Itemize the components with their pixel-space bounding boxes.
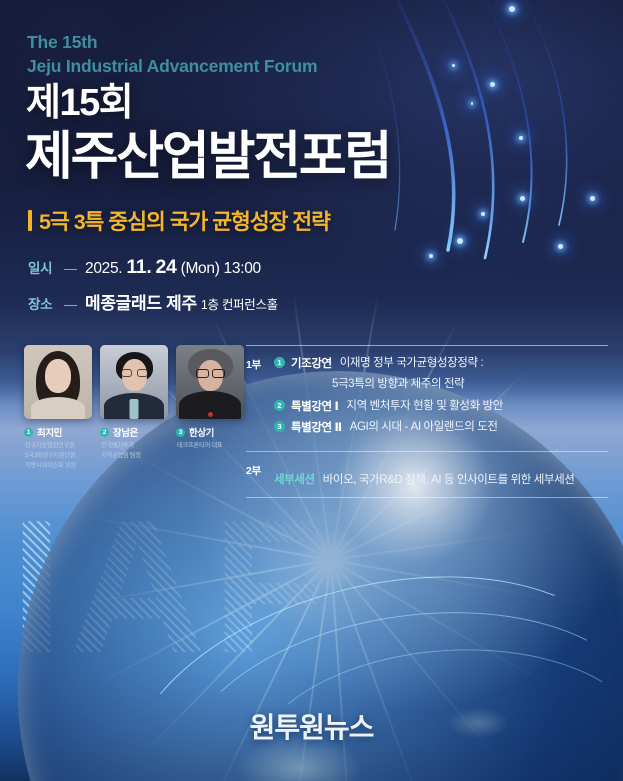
speaker-name-row: 2 장남은 — [100, 425, 168, 439]
part2-label: 2부 — [246, 461, 274, 478]
speaker-number-badge: 1 — [24, 428, 33, 437]
program-item-kind: 특별강연 Ⅱ — [291, 419, 342, 435]
program-item-desc: 지역 벤처투자 현황 및 활성화 방안 — [346, 398, 503, 415]
speaker-number-badge: 3 — [176, 428, 185, 437]
program-item-kind: 기조강연 — [291, 355, 332, 371]
page-title: 제주산업발전포럼 — [25, 130, 390, 185]
program-item: 3 특별강연 Ⅱ AGI의 시대 - AI 아일랜드의 도전 — [274, 419, 608, 436]
program-item: 1 기조강연 이재명 정부 국가균형성장정략 : — [274, 355, 608, 372]
venue-dash: — — [64, 297, 77, 312]
program-item-desc: AGI의 시대 - AI 아일랜드의 도전 — [350, 419, 498, 436]
speaker-affiliation: 테크프론티어 대표 — [176, 441, 244, 451]
speaker-affiliation: 한국지방행정연구원5극3특연구지원단장,지방시대위원회 위원 — [24, 441, 92, 470]
program-divider-top — [246, 345, 608, 346]
program-item-continuation: 5극3특의 방향과 제주의 전략 — [274, 375, 608, 391]
speaker-name: 한상기 — [189, 425, 214, 439]
speaker-name-row: 1 최지민 — [24, 425, 92, 439]
speaker-photo — [24, 345, 92, 419]
venue-main: 메종글래드 제주 — [85, 294, 197, 313]
edition-title: 제15회 — [26, 84, 132, 122]
date-dash: — — [64, 261, 77, 276]
date-month: 11. — [126, 256, 151, 278]
program-divider-bottom — [246, 497, 608, 498]
subtitle-row: 5극 3특 중심의 국가 균형성장 전략 — [28, 205, 330, 236]
speaker-name-row: 3 한상기 — [176, 425, 244, 439]
program-item-kind: 세부세션 — [274, 471, 315, 487]
program-part-2: 2부 세부세션 바이오, 국가R&D 정책, AI 등 인사이트를 위한 세부세… — [246, 461, 608, 489]
date-year: 2025. — [85, 260, 122, 277]
date-time: (Mon) 13:00 — [181, 260, 261, 277]
venue-value: 메종글래드 제주 1층 컨퍼런스홀 — [85, 289, 278, 314]
speaker-photo — [176, 345, 244, 419]
program-divider-mid — [246, 451, 608, 452]
date-day: 24 — [155, 256, 176, 278]
program-number-badge: 3 — [274, 421, 285, 432]
speaker-name: 장남은 — [113, 425, 138, 439]
part1-label: 1부 — [246, 355, 274, 372]
program-part-1: 1부 1 기조강연 이재명 정부 국가균형성장정략 : 5극3특의 방향과 제주… — [246, 355, 608, 441]
venue-row: 장소 — 메종글래드 제주 1층 컨퍼런스홀 — [28, 289, 278, 314]
subtitle-accent-bar — [28, 210, 32, 231]
speaker-card: 2 장남은 한국벤처투자지역균형팀 팀장 — [100, 345, 168, 470]
date-row: 일시 — 2025. 11. 24 (Mon) 13:00 — [28, 256, 278, 279]
program-item-desc: 이재명 정부 국가균형성장정략 : — [340, 355, 484, 372]
program-item-kind: 특별강연 Ⅰ — [291, 398, 338, 414]
date-value: 2025. 11. 24 (Mon) 13:00 — [85, 256, 261, 279]
venue-label: 장소 — [28, 293, 62, 313]
speaker-name: 최지민 — [37, 425, 62, 439]
event-poster: IAF — [0, 0, 623, 781]
news-watermark: 원투원뉴스 — [0, 706, 623, 746]
english-title: The 15th Jeju Industrial Advancement For… — [27, 30, 317, 78]
program-item: 세부세션 바이오, 국가R&D 정책, AI 등 인사이트를 위한 세부세션 — [274, 471, 608, 489]
speaker-card: 1 최지민 한국지방행정연구원5극3특연구지원단장,지방시대위원회 위원 — [24, 345, 92, 470]
program-agenda: 1부 1 기조강연 이재명 정부 국가균형성장정략 : 5극3특의 방향과 제주… — [246, 345, 608, 507]
event-info: 일시 — 2025. 11. 24 (Mon) 13:00 장소 — 메종글래드… — [28, 256, 278, 324]
speaker-affiliation: 한국벤처투자지역균형팀 팀장 — [100, 441, 168, 461]
subtitle-text: 5극 3특 중심의 국가 균형성장 전략 — [39, 205, 330, 236]
program-number-badge: 1 — [274, 357, 285, 368]
english-title-line2: Jeju Industrial Advancement Forum — [27, 54, 317, 78]
date-label: 일시 — [28, 257, 62, 277]
program-number-badge: 2 — [274, 400, 285, 411]
speaker-number-badge: 2 — [100, 428, 109, 437]
english-title-line1: The 15th — [27, 30, 317, 54]
speaker-photo — [100, 345, 168, 419]
glow-dots-decor — [373, 0, 623, 290]
venue-sub: 1층 컨퍼런스홀 — [201, 298, 278, 312]
speaker-card: 3 한상기 테크프론티어 대표 — [176, 345, 244, 470]
program-item: 2 특별강연 Ⅰ 지역 벤처투자 현황 및 활성화 방안 — [274, 398, 608, 415]
program-item-desc: 바이오, 국가R&D 정책, AI 등 인사이트를 위한 세부세션 — [323, 472, 575, 489]
speaker-list: 1 최지민 한국지방행정연구원5극3특연구지원단장,지방시대위원회 위원 2 — [24, 345, 244, 470]
